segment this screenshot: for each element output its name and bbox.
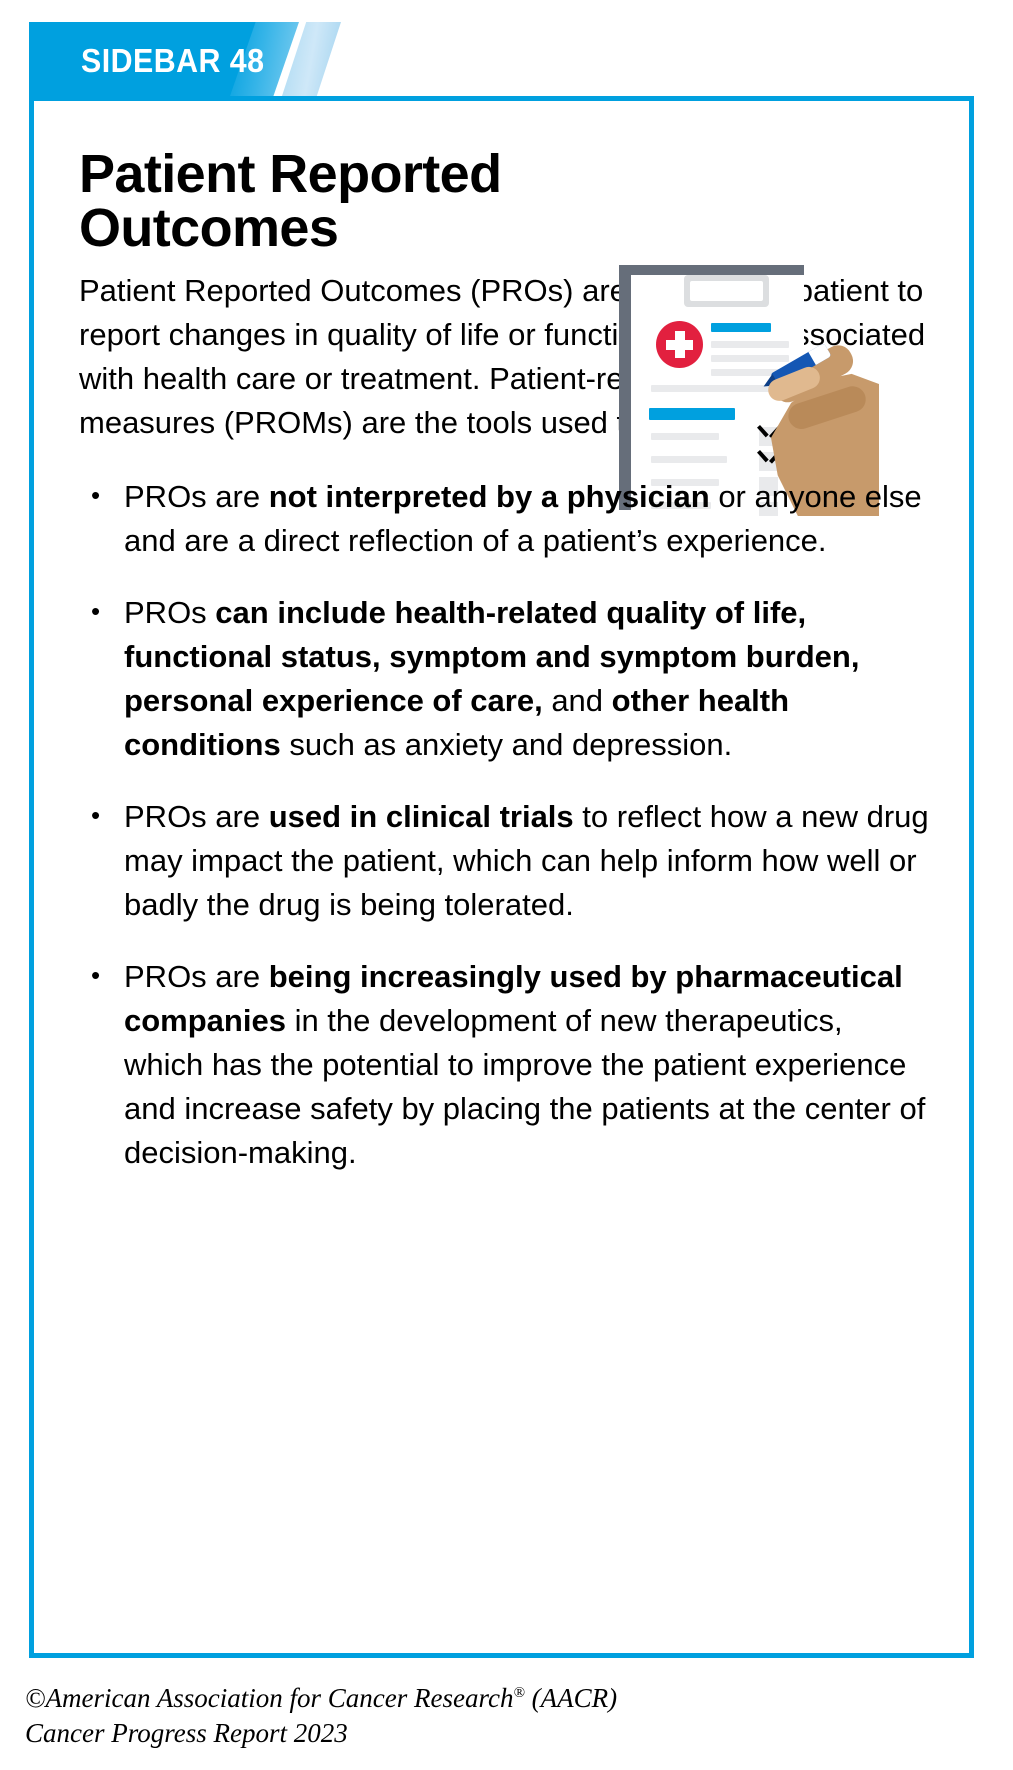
sidebar-number-label: SIDEBAR 48 — [81, 42, 264, 80]
copyright-org: ©American Association for Cancer Researc… — [25, 1683, 513, 1713]
key-points-list: PROs are not interpreted by a physician … — [79, 475, 929, 1175]
body-text: such as anxiety and depression. — [281, 727, 733, 762]
body-text: PROs — [124, 595, 215, 630]
registered-trademark-icon: ® — [513, 1685, 524, 1701]
list-item: PROs are not interpreted by a physician … — [79, 475, 929, 563]
page-title-line-1: Patient Reported — [79, 147, 639, 201]
paper-text-line — [711, 355, 789, 362]
body-text: PROs are — [124, 479, 269, 514]
page-title-line-2: Outcomes — [79, 201, 639, 255]
copyright-line-1: ©American Association for Cancer Researc… — [25, 1676, 925, 1716]
list-item: PROs can include health-related quality … — [79, 591, 929, 767]
paper-heading-line — [711, 323, 771, 332]
body-text: and — [543, 683, 612, 718]
clipboard-clip-icon — [684, 275, 769, 307]
page-title: Patient Reported Outcomes — [79, 147, 639, 255]
copyright-footer: ©American Association for Cancer Researc… — [25, 1676, 925, 1751]
paper-text-line — [651, 433, 719, 440]
list-item: PROs are being increasingly used by phar… — [79, 955, 929, 1175]
copyright-abbrev: (AACR) — [525, 1683, 617, 1713]
paper-text-line — [711, 341, 789, 348]
paper-text-line — [651, 456, 727, 463]
card-inner: Patient Reported Outcomes — [79, 131, 929, 1203]
emphasis-text: not interpreted by a physician — [269, 479, 710, 514]
header-banner: SIDEBAR 48 — [29, 22, 984, 99]
clipboard-clip-inner — [690, 281, 763, 301]
body-text: PROs are — [124, 799, 269, 834]
medical-cross-icon — [656, 321, 703, 368]
sidebar-page: SIDEBAR 48 Patient Reported Outcomes — [0, 0, 1013, 1770]
content-card: Patient Reported Outcomes — [29, 96, 974, 1658]
list-item: PROs are used in clinical trials to refl… — [79, 795, 929, 927]
emphasis-text: used in clinical trials — [269, 799, 574, 834]
copyright-line-2: Cancer Progress Report 2023 — [25, 1716, 925, 1751]
body-text: PROs are — [124, 959, 269, 994]
paper-section-heading — [649, 408, 735, 420]
